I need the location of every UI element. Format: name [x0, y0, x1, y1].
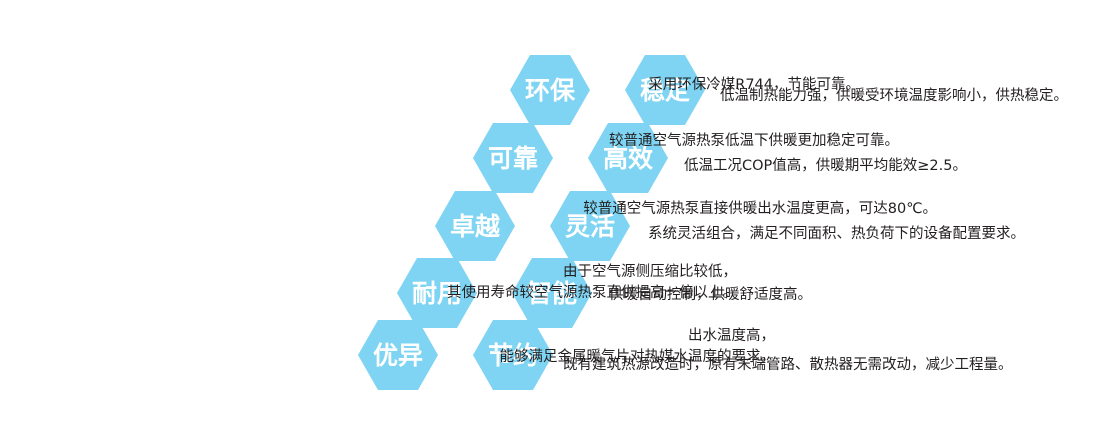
caption-linghuo: 系统灵活组合，满足不同面积、热负荷下的设备配置要求。: [648, 224, 1025, 245]
caption-kekao: 较普通空气源热泵低温下供暖更加稳定可靠。: [609, 131, 899, 152]
hexagon-label: 可靠: [488, 146, 538, 171]
infographic-canvas: 环保稳定可靠高效卓越灵活耐用智能优异节约采用环保冷媒R744，节能可靠。低温制热…: [0, 0, 1118, 441]
caption-zhineng: 供暖自动控制，供暖舒适度高。: [609, 285, 812, 306]
hexagon-zhuoyue[interactable]: 卓越: [435, 191, 515, 261]
hexagon-youyi[interactable]: 优异: [358, 320, 438, 390]
hexagon-label: 优异: [373, 343, 423, 368]
caption-gaoxiao: 低温工况COP值高，供暖期平均能效≥2.5。: [684, 156, 967, 177]
hexagon-kekao[interactable]: 可靠: [473, 123, 553, 193]
caption-zhuoyue: 较普通空气源热泵直接供暖出水温度更高，可达80℃。: [583, 199, 937, 220]
hexagon-huanbao[interactable]: 环保: [510, 55, 590, 125]
hexagon-label: 环保: [525, 78, 575, 103]
caption-jieyue: 既有建筑热源改造时，原有末端管路、散热器无需改动，减少工程量。: [563, 355, 1013, 376]
hexagon-label: 卓越: [450, 214, 500, 239]
caption-wending: 低温制热能力强，供暖受环境温度影响小，供热稳定。: [720, 86, 1068, 107]
